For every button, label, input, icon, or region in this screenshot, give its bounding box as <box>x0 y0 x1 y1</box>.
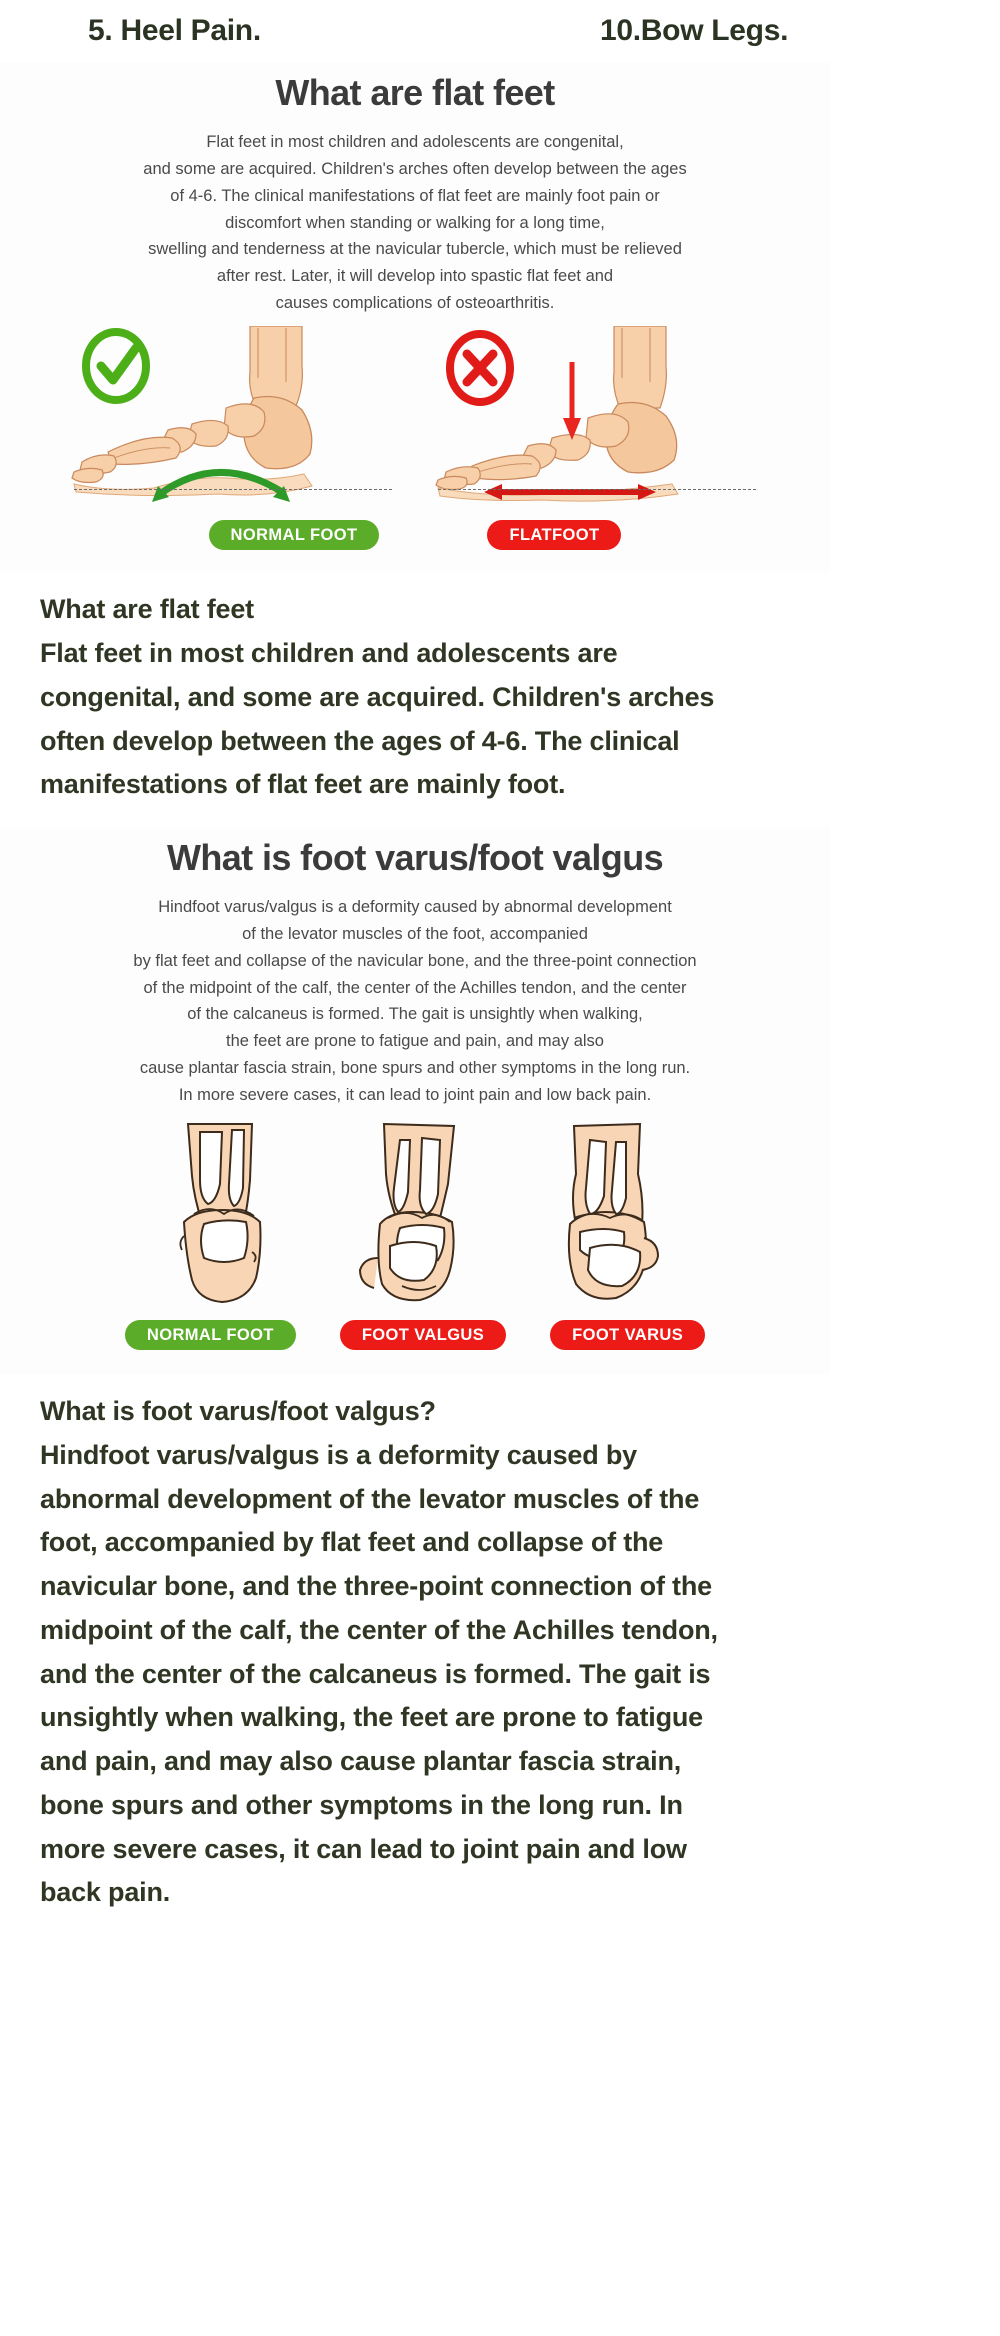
bold-line: bone spurs and other symptoms in the lon… <box>40 1784 960 1828</box>
flatfoot-side-view <box>432 326 762 506</box>
collapse-arrow-red <box>563 362 581 440</box>
paragraph-line: Flat feet in most children and adolescen… <box>34 129 796 156</box>
badge-normal-foot: NORMAL FOOT <box>209 520 380 550</box>
badge-foot-varus: FOOT VARUS <box>550 1320 705 1350</box>
normal-foot-side-view <box>68 326 398 506</box>
paragraph-line: cause plantar fascia strain, bone spurs … <box>34 1055 796 1082</box>
foot-varus-rear-view <box>532 1118 682 1308</box>
badge-foot-valgus: FOOT VALGUS <box>340 1320 506 1350</box>
check-icon <box>86 332 146 400</box>
normal-foot-bones <box>72 326 312 496</box>
paragraph-line: by flat feet and collapse of the navicul… <box>34 948 796 975</box>
bold-line: Hindfoot varus/valgus is a deformity cau… <box>40 1434 960 1478</box>
bold-line: and the center of the calcaneus is forme… <box>40 1653 960 1697</box>
paragraph-line: and some are acquired. Children's arches… <box>34 156 796 183</box>
paragraph-line: of the midpoint of the calf, the center … <box>34 975 796 1002</box>
bold-line: unsightly when walking, the feet are pro… <box>40 1696 960 1740</box>
paragraph-line: causes complications of osteoarthritis. <box>34 290 796 317</box>
flat-feet-title: What are flat feet <box>0 62 830 129</box>
bold-line: abnormal development of the levator musc… <box>40 1478 960 1522</box>
varus-valgus-title: What is foot varus/foot valgus <box>0 827 830 894</box>
index-row: 5. Heel Pain. 10.Bow Legs. <box>0 0 1000 62</box>
card-flat-feet: What are flat feet Flat feet in most chi… <box>0 62 830 572</box>
paragraph-line: of the levator muscles of the foot, acco… <box>34 921 796 948</box>
flatfoot-bones <box>436 326 678 501</box>
badge-normal-foot: NORMAL FOOT <box>125 1320 296 1350</box>
bold-block-varus-valgus: What is foot varus/foot valgus? Hindfoot… <box>0 1374 1000 1919</box>
paragraph-line: swelling and tenderness at the navicular… <box>34 236 796 263</box>
flat-feet-paragraph: Flat feet in most children and adolescen… <box>0 129 830 316</box>
ground-line <box>74 489 392 490</box>
paragraph-line: In more severe cases, it can lead to joi… <box>34 1082 796 1109</box>
bold-line: often develop between the ages of 4-6. T… <box>40 720 960 764</box>
varus-valgus-illustrations <box>0 1108 830 1308</box>
flat-feet-badges: NORMAL FOOT FLATFOOT <box>0 506 830 558</box>
flat-feet-illustrations <box>0 316 830 506</box>
paragraph-line: discomfort when standing or walking for … <box>34 210 796 237</box>
normal-foot-rear-view <box>148 1118 298 1308</box>
bold-line: midpoint of the calf, the center of the … <box>40 1609 960 1653</box>
paragraph-line: the feet are prone to fatigue and pain, … <box>34 1028 796 1055</box>
bold-line: navicular bone, and the three-point conn… <box>40 1565 960 1609</box>
badge-flatfoot: FLATFOOT <box>487 520 621 550</box>
varus-valgus-paragraph: Hindfoot varus/valgus is a deformity cau… <box>0 894 830 1108</box>
varus-valgus-badges: NORMAL FOOT FOOT VALGUS FOOT VARUS <box>0 1308 830 1360</box>
bold-line: congenital, and some are acquired. Child… <box>40 676 960 720</box>
paragraph-line: after rest. Later, it will develop into … <box>34 263 796 290</box>
bold-line: foot, accompanied by flat feet and colla… <box>40 1521 960 1565</box>
bold-line: back pain. <box>40 1871 960 1915</box>
bold-block-flat-feet: What are flat feet Flat feet in most chi… <box>0 572 1000 811</box>
bold-line: and pain, and may also cause plantar fas… <box>40 1740 960 1784</box>
bold-heading-flat-feet: What are flat feet <box>40 588 960 632</box>
paragraph-line: Hindfoot varus/valgus is a deformity cau… <box>34 894 796 921</box>
infographic-page: 5. Heel Pain. 10.Bow Legs. What are flat… <box>0 0 1000 2336</box>
foot-valgus-rear-view <box>340 1118 490 1308</box>
paragraph-line: of the calcaneus is formed. The gait is … <box>34 1001 796 1028</box>
paragraph-line: of 4-6. The clinical manifestations of f… <box>34 183 796 210</box>
bold-line: manifestations of flat feet are mainly f… <box>40 763 960 807</box>
index-item-heel-pain: 5. Heel Pain. <box>88 14 261 48</box>
bold-line: Flat feet in most children and adolescen… <box>40 632 960 676</box>
index-item-bow-legs: 10.Bow Legs. <box>600 14 788 48</box>
bold-line: more severe cases, it can lead to joint … <box>40 1828 960 1872</box>
bold-heading-varus-valgus: What is foot varus/foot valgus? <box>40 1390 960 1434</box>
cross-icon <box>450 334 510 402</box>
card-foot-varus-valgus: What is foot varus/foot valgus Hindfoot … <box>0 827 830 1374</box>
ground-line <box>438 489 756 490</box>
